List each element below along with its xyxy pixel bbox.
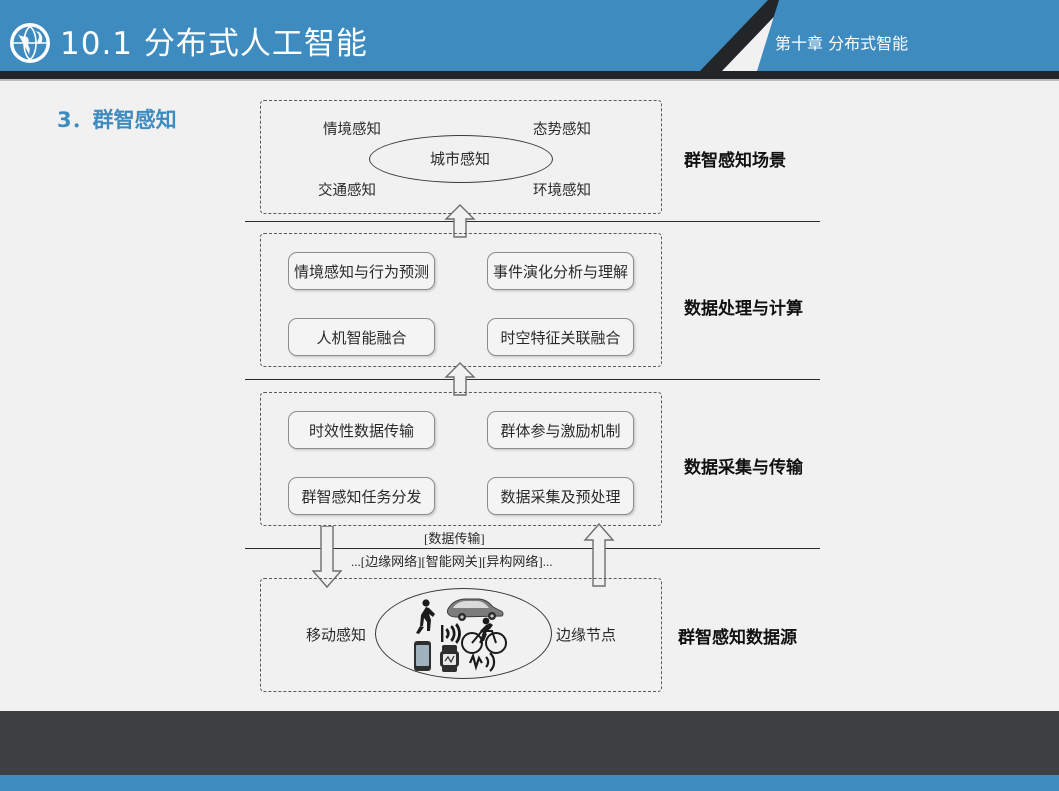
cyclist-icon xyxy=(462,618,506,653)
smartphone-icon xyxy=(414,641,431,671)
corner-label-posture: 态势感知 xyxy=(533,118,591,139)
smartwatch-icon xyxy=(440,645,459,672)
process-box-3[interactable]: 人机智能融合 xyxy=(288,318,435,356)
network-layers-label: ...[边缘网络][智能网关][异构网络]... xyxy=(351,551,552,570)
mobile-sensing-label: 移动感知 xyxy=(306,624,366,645)
tier-label-collection: 数据采集与传输 xyxy=(684,453,803,478)
city-sensing-label: 城市感知 xyxy=(430,148,490,169)
car-icon xyxy=(447,599,503,621)
data-transmission-label: [数据传输] xyxy=(424,528,485,547)
process-box-4[interactable]: 时空特征关联融合 xyxy=(487,318,634,356)
process-box-2[interactable]: 事件演化分析与理解 xyxy=(487,252,634,290)
collect-box-2[interactable]: 群体参与激励机制 xyxy=(487,411,634,449)
collect-box-1[interactable]: 时效性数据传输 xyxy=(288,411,435,449)
tier-label-processing: 数据处理与计算 xyxy=(684,294,803,319)
tier-divider-2 xyxy=(245,379,820,380)
antenna-signal-icon xyxy=(441,623,461,644)
tier-label-scene: 群智感知场景 xyxy=(684,146,786,171)
signal-wave-icon xyxy=(470,653,494,671)
footer-blue-band xyxy=(0,775,1059,791)
footer-dark-band xyxy=(0,711,1059,775)
collect-box-4[interactable]: 数据采集及预处理 xyxy=(487,477,634,515)
process-box-1[interactable]: 情境感知与行为预测 xyxy=(288,252,435,290)
tier-label-datasource: 群智感知数据源 xyxy=(678,623,797,648)
corner-label-situation: 情境感知 xyxy=(323,118,381,139)
collect-box-3[interactable]: 群智感知任务分发 xyxy=(288,477,435,515)
crowd-sensing-architecture-diagram: 情境感知 态势感知 交通感知 环境感知 城市感知 群智感知场景 情境感知与行为预… xyxy=(0,0,1059,791)
pedestrian-icon xyxy=(416,599,435,634)
datasource-icon-cluster xyxy=(400,595,530,673)
corner-label-environment: 环境感知 xyxy=(533,179,591,200)
edge-node-label: 边缘节点 xyxy=(556,624,616,645)
tier-divider-1 xyxy=(245,221,820,222)
corner-label-traffic: 交通感知 xyxy=(318,179,376,200)
